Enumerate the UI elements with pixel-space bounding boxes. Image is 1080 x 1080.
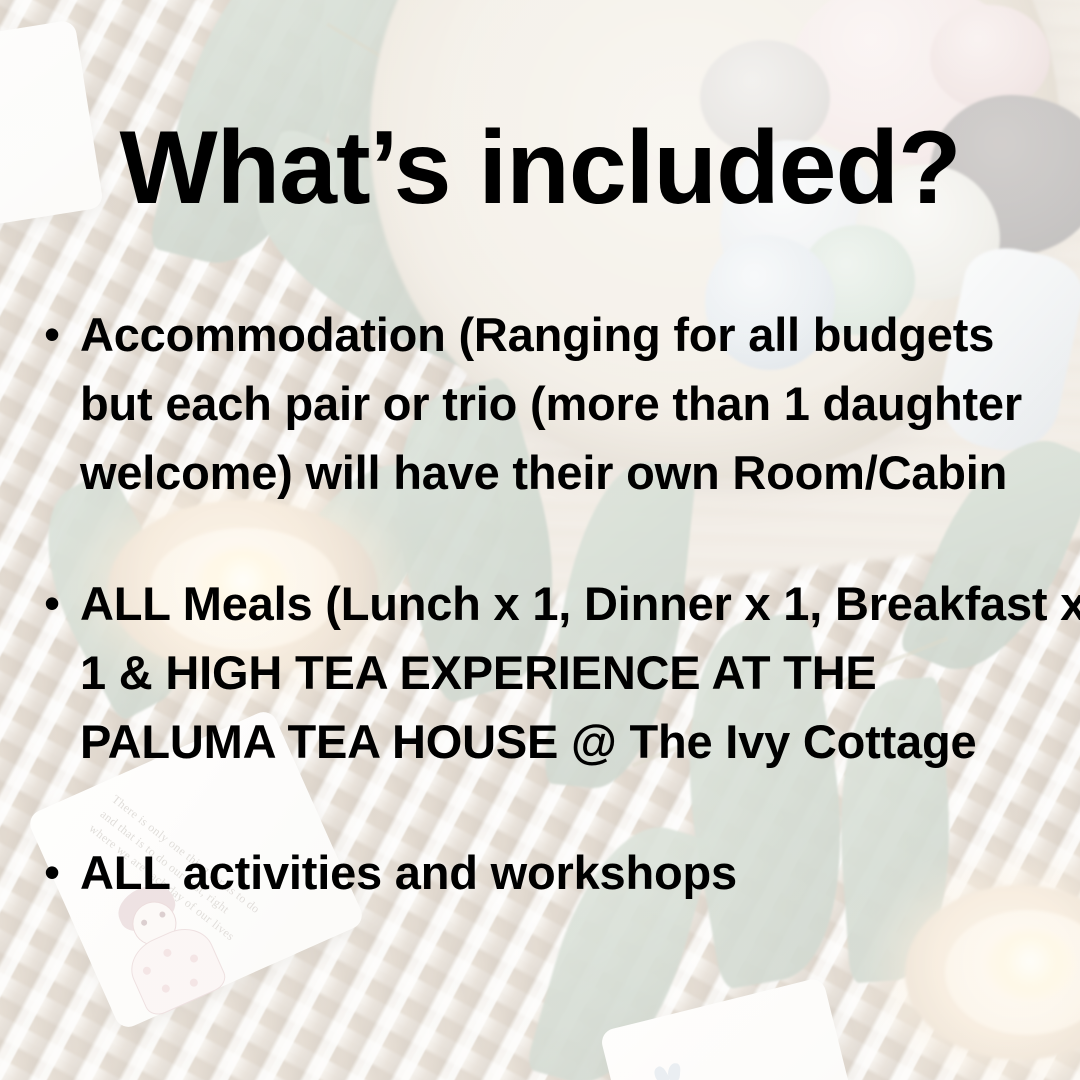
list-item-text: ALL Meals (Lunch x 1, Dinner x 1, Breakf…: [80, 569, 1080, 776]
list-item-line: ALL activities and workshops: [80, 838, 1054, 907]
list-item: • Accommodation (Ranging for all budgets…: [44, 300, 1054, 507]
list-item-text: ALL activities and workshops: [80, 838, 1054, 907]
list-item-line: welcome) will have their own Room/Cabin: [80, 438, 1054, 507]
bullet-point-icon: •: [44, 300, 80, 369]
page-title: What’s included?: [0, 114, 1080, 222]
list-item-line: Accommodation (Ranging for all budgets: [80, 300, 1054, 369]
slide-content: What’s included? • Accommodation (Rangin…: [0, 0, 1080, 1080]
bullet-point-icon: •: [44, 838, 80, 907]
list-item-line: but each pair or trio (more than 1 daugh…: [80, 369, 1054, 438]
list-item: • ALL activities and workshops: [44, 838, 1054, 907]
list-item-line: ALL Meals (Lunch x 1, Dinner x 1, Breakf…: [80, 569, 1080, 638]
slide-canvas: There is only one thing for us to do and…: [0, 0, 1080, 1080]
list-item-text: Accommodation (Ranging for all budgets b…: [80, 300, 1054, 507]
bullet-point-icon: •: [44, 569, 80, 638]
included-items-list: • Accommodation (Ranging for all budgets…: [44, 300, 1054, 907]
list-item: • ALL Meals (Lunch x 1, Dinner x 1, Brea…: [44, 569, 1054, 776]
list-item-line: PALUMA TEA HOUSE @ The Ivy Cottage: [80, 707, 1080, 776]
list-item-line: 1 & HIGH TEA EXPERIENCE AT THE: [80, 638, 1080, 707]
